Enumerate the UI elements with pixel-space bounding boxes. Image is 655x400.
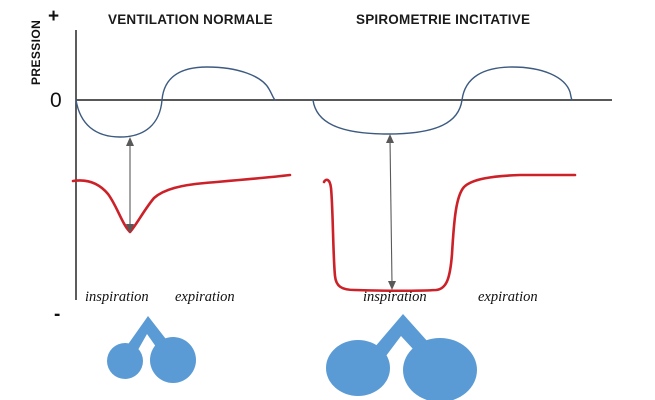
amplitude-arrow-left bbox=[126, 137, 134, 233]
panel-title-ventilation-normale: VENTILATION NORMALE bbox=[108, 12, 273, 27]
amplitude-arrow-right-shaft bbox=[390, 139, 392, 284]
phase-label-inspiration-left: inspiration bbox=[85, 289, 149, 305]
flow-curve-incentive-spirometry bbox=[324, 175, 575, 291]
lung-lobe-left-small bbox=[107, 343, 143, 379]
lung-lobe-left-large bbox=[326, 340, 390, 396]
phase-label-expiration-right: expiration bbox=[478, 289, 538, 305]
respiratory-pressure-flow-diagram: + 0 - PRESSION VENTILATION NORMALE SPIRO… bbox=[0, 0, 655, 400]
axis-zero-label: 0 bbox=[50, 89, 62, 112]
panel-title-spirometrie-incitative: SPIROMETRIE INCITATIVE bbox=[356, 12, 530, 27]
phase-label-inspiration-right: inspiration bbox=[363, 289, 427, 305]
amplitude-arrow-right-head-top bbox=[386, 134, 394, 143]
y-axis-title: PRESSION bbox=[29, 20, 43, 85]
lung-lobe-right-large bbox=[403, 338, 477, 400]
lung-icon-normal-ventilation bbox=[107, 316, 196, 383]
lung-lobe-right-small bbox=[150, 337, 196, 383]
amplitude-arrow-right bbox=[386, 134, 396, 290]
amplitude-arrow-left-head-top bbox=[126, 137, 134, 146]
flow-curve-normal-ventilation bbox=[73, 175, 290, 232]
axis-minus-label: - bbox=[54, 304, 60, 325]
axes-group bbox=[76, 30, 612, 300]
axis-plus-label: + bbox=[48, 6, 59, 27]
pressure-curve-normal-ventilation bbox=[76, 67, 275, 137]
lung-icon-incentive-spirometry bbox=[326, 314, 477, 400]
phase-label-expiration-left: expiration bbox=[175, 289, 235, 305]
diagram-canvas: + 0 - PRESSION VENTILATION NORMALE SPIRO… bbox=[0, 0, 655, 400]
